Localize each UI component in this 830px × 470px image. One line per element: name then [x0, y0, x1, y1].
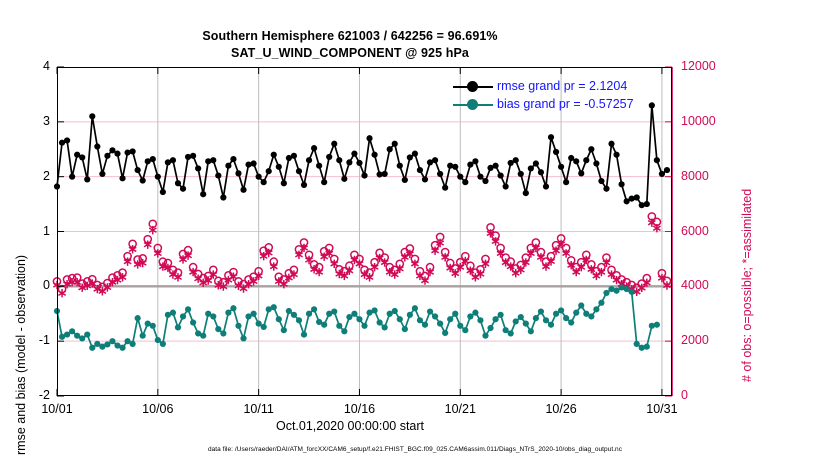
y-axis-left-title: rmse and bias (model - observation) — [14, 155, 28, 455]
chart-title-line1: Southern Hemisphere 621003 / 642256 = 96… — [0, 28, 700, 45]
legend-item: rmse grand pr = 2.1204 — [451, 78, 673, 96]
y-tick-right-10000: 10000 — [681, 114, 741, 128]
chart-legend: rmse grand pr = 2.1204bias grand pr = -0… — [451, 78, 673, 114]
data-file-footnote: data file: /Users/raeder/DAI/ATM_forcXX/… — [0, 446, 830, 453]
legend-marker-icon — [467, 99, 478, 110]
legend-label: bias grand pr = -0.57257 — [497, 97, 634, 111]
plot-frame — [57, 67, 672, 396]
y-tick-right-4000: 4000 — [681, 278, 741, 292]
chart-page: Southern Hemisphere 621003 / 642256 = 96… — [0, 0, 830, 470]
chart-title-line2: SAT_U_WIND_COMPONENT @ 925 hPa — [0, 45, 700, 62]
y-tick-right-12000: 12000 — [681, 59, 741, 73]
y-tick-right-2000: 2000 — [681, 333, 741, 347]
legend-marker-icon — [467, 81, 478, 92]
x-tick-10/11: 10/11 — [224, 402, 294, 416]
x-tick-10/21: 10/21 — [425, 402, 495, 416]
x-tick-10/31: 10/31 — [627, 402, 697, 416]
x-tick-10/01: 10/01 — [22, 402, 92, 416]
x-tick-10/06: 10/06 — [123, 402, 193, 416]
x-tick-10/26: 10/26 — [526, 402, 596, 416]
x-tick-10/16: 10/16 — [324, 402, 394, 416]
y-axis-right-title: # of obs: o=possible; *=assimilated — [740, 52, 754, 382]
plot-area — [57, 67, 672, 396]
y-tick-right-6000: 6000 — [681, 224, 741, 238]
legend-label: rmse grand pr = 2.1204 — [497, 79, 627, 93]
y-tick-left-4: 4 — [4, 59, 50, 73]
y-tick-right-8000: 8000 — [681, 169, 741, 183]
y-tick-left-3: 3 — [4, 114, 50, 128]
y-tick-right-0: 0 — [681, 388, 741, 402]
chart-title: Southern Hemisphere 621003 / 642256 = 96… — [0, 28, 700, 62]
legend-item: bias grand pr = -0.57257 — [451, 96, 673, 114]
x-axis-title: Oct.01,2020 00:00:00 start — [0, 419, 700, 433]
